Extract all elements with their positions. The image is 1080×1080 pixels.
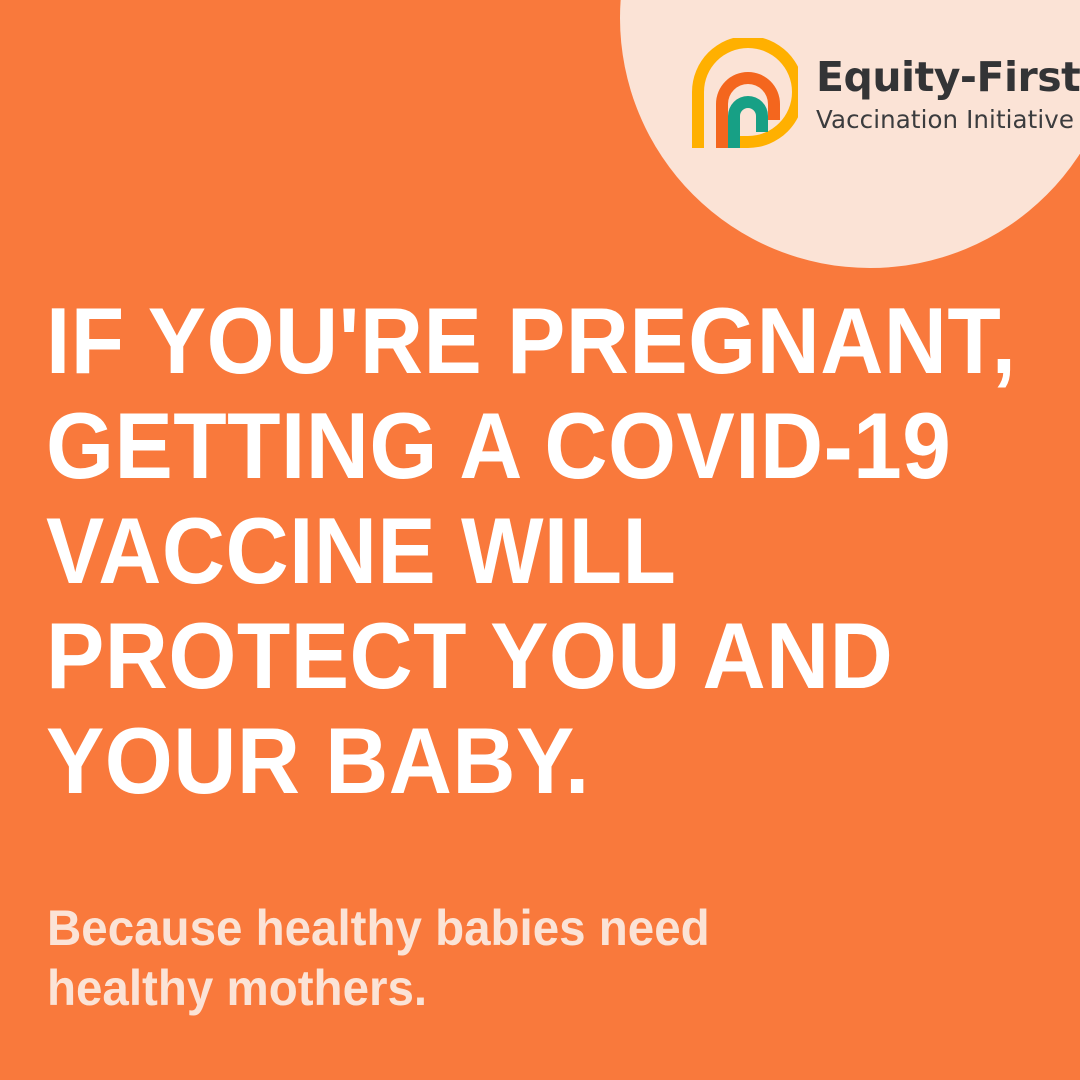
nested-arches-p-mark-icon [686,38,798,150]
poster-canvas: Equity-First Vaccination Initiative IF Y… [0,0,1080,1080]
headline-line-4: PROTECT YOU AND [46,603,967,708]
brand-logo[interactable]: Equity-First Vaccination Initiative [686,38,1080,150]
headline: IF YOU'RE PREGNANT, GETTING A COVID-19 V… [46,288,1036,813]
brand-title: Equity-First [816,56,1080,99]
headline-line-5: YOUR BABY. [46,708,967,813]
subheadline-line-2: healthy mothers. [47,958,959,1018]
headline-line-3: VACCINE WILL [46,498,967,603]
headline-line-1: IF YOU'RE PREGNANT, [46,288,967,393]
brand-subtitle: Vaccination Initiative [816,105,1080,134]
subheadline: Because healthy babies need healthy moth… [47,898,1007,1018]
headline-line-2: GETTING A COVID-19 [46,393,967,498]
brand-wordmark: Equity-First Vaccination Initiative [816,54,1080,134]
subheadline-line-1: Because healthy babies need [47,898,959,958]
